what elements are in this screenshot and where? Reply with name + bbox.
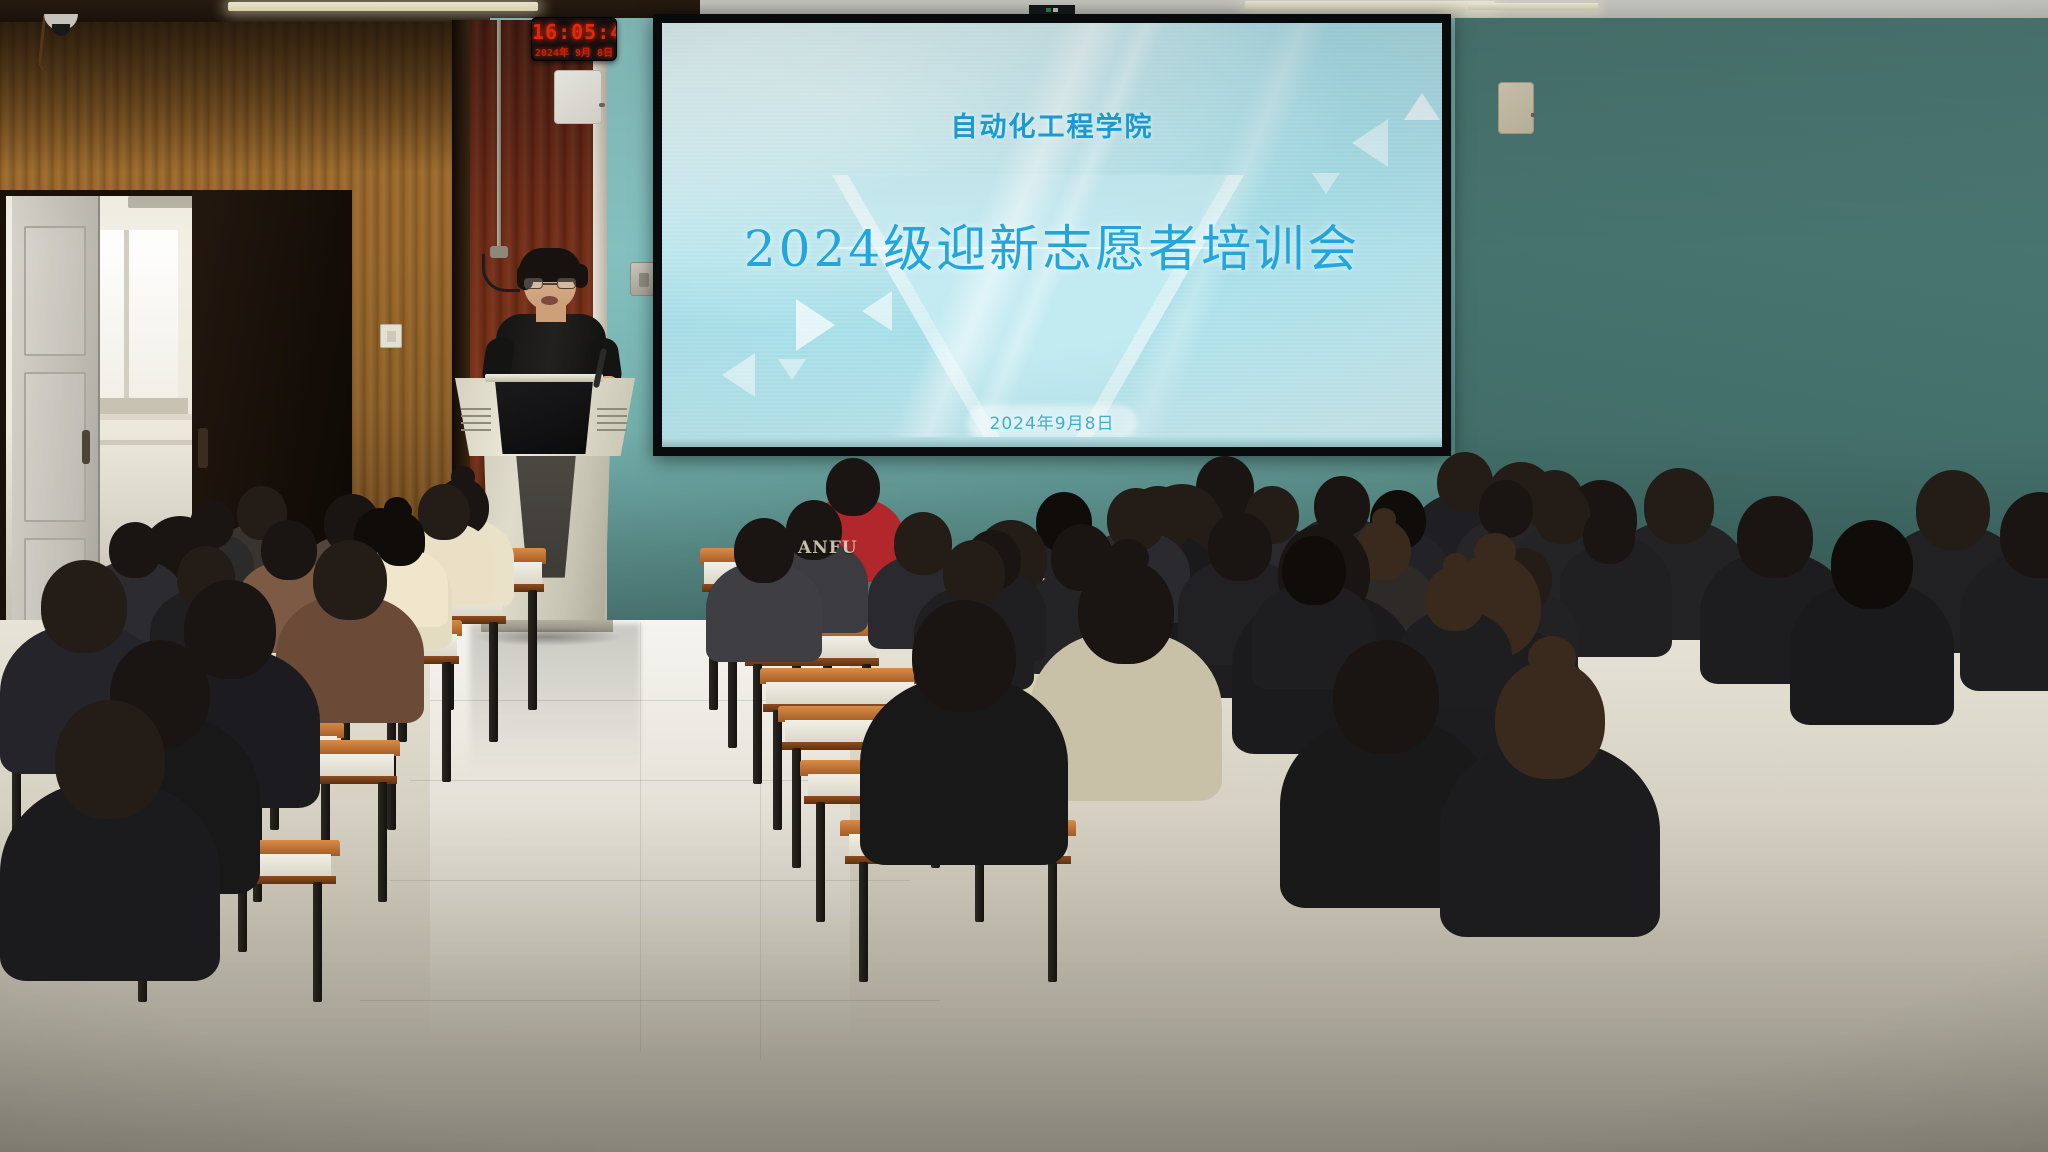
lectern-vent [461, 408, 491, 434]
clock-date: 2024年 9月 8日 [532, 44, 616, 59]
student-head [1333, 640, 1439, 754]
shirt-graphic-text: ANFU [798, 538, 858, 558]
lectern-vent [597, 408, 627, 434]
student-head [313, 540, 387, 620]
desk-leg [489, 622, 498, 742]
ceiling-light-strip [228, 2, 538, 11]
corridor-window [100, 230, 178, 400]
wall-mounted-white-box [554, 70, 602, 124]
student-head [41, 560, 127, 653]
desk-leg [442, 662, 451, 782]
student-head [1831, 520, 1913, 609]
wall-mounted-beige-box [1498, 82, 1534, 134]
slide-title: 2024级迎新志愿者培训会 [662, 209, 1442, 281]
corridor-railing [96, 414, 192, 420]
lectern-touch-screen[interactable] [488, 378, 600, 454]
desk-leg [528, 590, 537, 710]
clock-time: 16:05:44 [532, 20, 616, 44]
desk-leg [816, 802, 825, 922]
lecture-hall-photo: 16:05:44 2024年 9月 8日 自动化工程学院 2024级迎新志愿者培… [0, 0, 2048, 1152]
corridor-window-mullion [124, 230, 129, 400]
student-head [1583, 508, 1635, 564]
student-head [943, 540, 1005, 607]
student-silhouette [1790, 520, 1954, 746]
student-silhouette [0, 700, 220, 1010]
student-head [912, 600, 1016, 712]
glasses-icon [524, 278, 576, 290]
hair-bun [1443, 553, 1469, 577]
desk-leg [313, 882, 322, 1002]
wood-paneling-shadow [0, 22, 470, 172]
dark-door-handle[interactable] [198, 428, 208, 468]
hair-bun [390, 501, 412, 521]
hair-bun [1528, 636, 1576, 680]
student-head [1282, 536, 1346, 605]
white-door-handle[interactable] [82, 430, 90, 464]
corridor-window-sill [96, 398, 188, 414]
projection-screen-frame: 自动化工程学院 2024级迎新志愿者培训会 2024年9月8日 [653, 14, 1451, 456]
screen-sensor-icon [1029, 5, 1075, 14]
student-head [55, 700, 165, 819]
student-silhouette [860, 600, 1068, 892]
ceiling-light-strip [1245, 1, 1495, 9]
desk-leg [378, 782, 387, 902]
ceiling-light-strip [1468, 3, 1598, 10]
projection-screen: 自动化工程学院 2024级迎新志愿者培训会 2024年9月8日 [662, 23, 1442, 447]
slide-organization: 自动化工程学院 [662, 105, 1442, 144]
student-silhouette [1960, 492, 2048, 712]
hair-bun [1107, 539, 1149, 577]
wall-light-switch[interactable] [380, 324, 402, 348]
screen-bottom-edge [662, 437, 1442, 447]
corridor-railing [96, 440, 192, 445]
slide-date: 2024年9月8日 [662, 409, 1442, 434]
student-silhouette [1440, 660, 1660, 966]
microphone-rod [497, 20, 501, 250]
student-head [734, 518, 794, 583]
digital-wall-clock: 16:05:44 2024年 9月 8日 [531, 17, 617, 61]
